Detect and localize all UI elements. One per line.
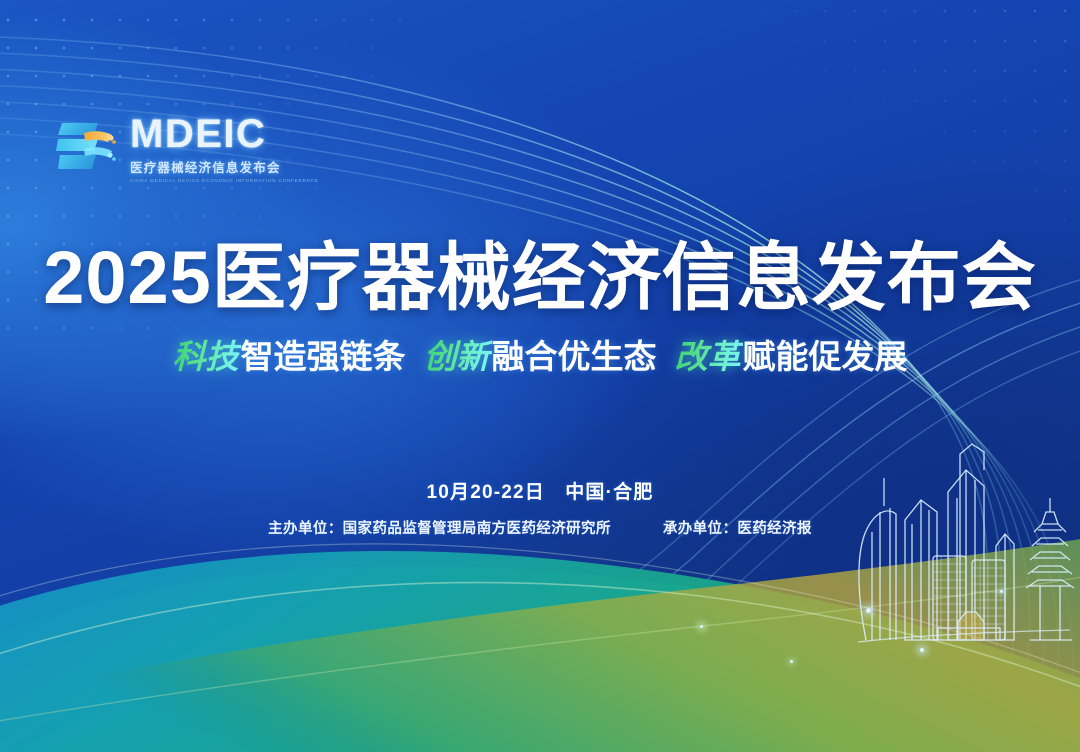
slogan-text-1: 智造强链条 — [241, 338, 406, 375]
conference-poster: MDEIC 医疗器械经济信息发布会 CHINA MEDICAL DEVICE E… — [0, 0, 1080, 752]
event-logo: MDEIC 医疗器械经济信息发布会 CHINA MEDICAL DEVICE E… — [54, 110, 319, 183]
sparkle — [790, 660, 793, 663]
host-organization: 主办单位：国家药品监督管理局南方医药经济研究所 — [268, 517, 611, 538]
organizer-row: 主办单位：国家药品监督管理局南方医药经济研究所 承办单位：医药经济报 — [0, 517, 1080, 538]
slogan-text-2: 融合优生态 — [492, 338, 657, 375]
slogan-highlight-2: 创新 — [424, 338, 492, 375]
date-location: 10月20-22日 中国·合肥 — [0, 477, 1080, 504]
slogan-text-3: 赋能促发展 — [743, 338, 908, 375]
mdeic-ribbon-mark — [54, 115, 120, 179]
slogan: 科技智造强链条创新融合优生态改革赋能促发展 — [0, 336, 1080, 377]
sparkle — [920, 648, 924, 652]
sparkle — [1000, 590, 1003, 593]
logo-wordmark: MDEIC — [130, 114, 319, 154]
slogan-highlight-3: 改革 — [675, 338, 743, 375]
sparkle — [700, 625, 703, 628]
page-title: 2025医疗器械经济信息发布会 — [0, 238, 1080, 318]
slogan-highlight-1: 科技 — [173, 338, 241, 375]
logo-english-name: CHINA MEDICAL DEVICE ECONOMIC INFORMATIO… — [130, 178, 319, 183]
co-organizer: 承办单位：医药经济报 — [663, 517, 812, 538]
sparkle — [866, 608, 871, 613]
logo-chinese-name: 医疗器械经济信息发布会 — [130, 157, 319, 176]
